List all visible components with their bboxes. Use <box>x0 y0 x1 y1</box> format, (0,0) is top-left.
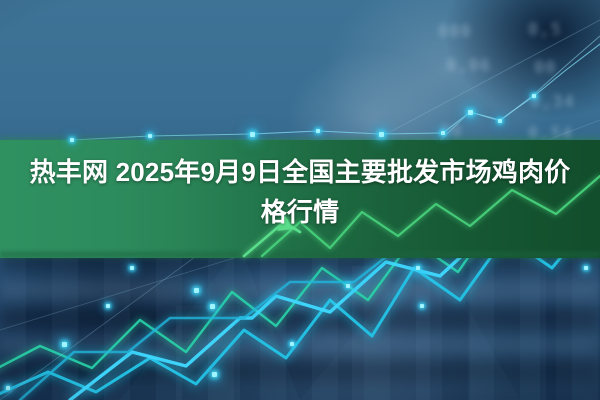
article-cover-image: 000 0,5 0,06 00 0,34 00 0,54 热丰网 2025年9月… <box>0 0 600 400</box>
vignette-overlay <box>0 0 600 400</box>
